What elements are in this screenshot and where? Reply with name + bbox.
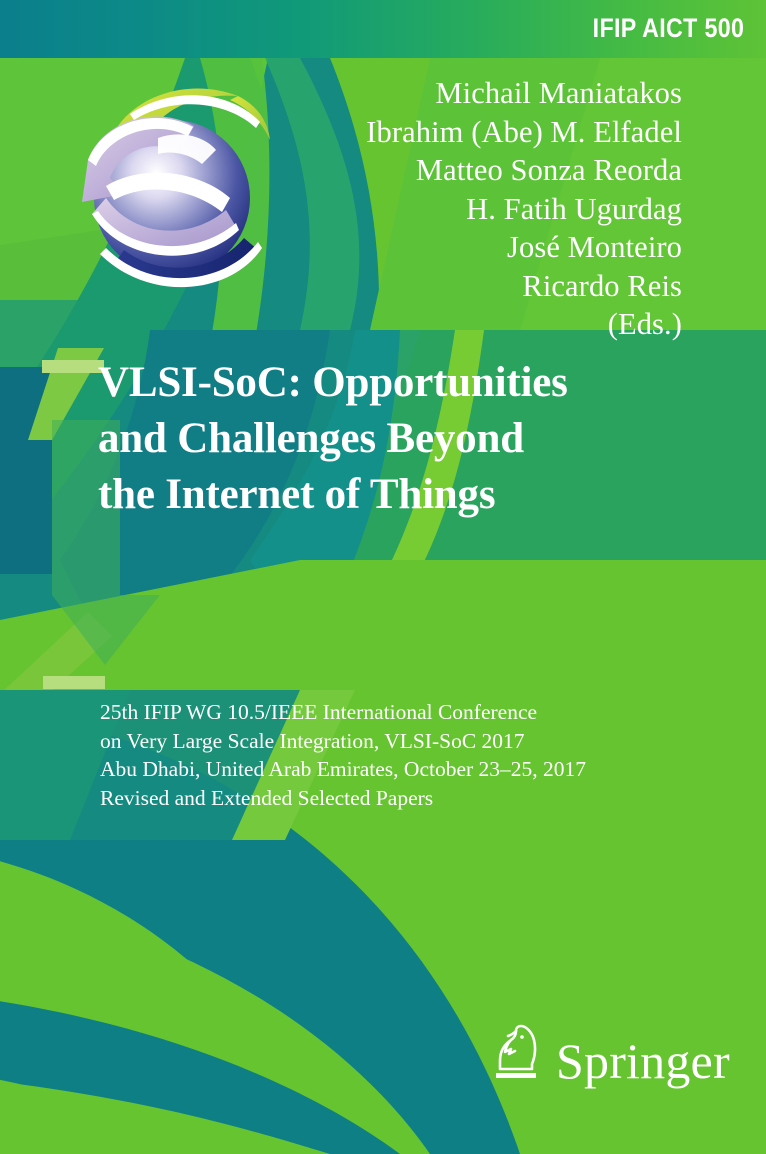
editor-name: H. Fatih Ugurdag — [122, 190, 682, 229]
book-cover: IFIP AICT 500 — [0, 0, 766, 1154]
editors-role: (Eds.) — [122, 305, 682, 344]
title-line: VLSI-SoC: Opportunities — [98, 355, 738, 411]
springer-wordmark: Springer — [556, 1036, 730, 1086]
editor-name: Ibrahim (Abe) M. Elfadel — [122, 113, 682, 152]
subtitle-line: on Very Large Scale Integration, VLSI-So… — [100, 727, 740, 756]
conference-subtitle: 25th IFIP WG 10.5/IEEE International Con… — [100, 698, 740, 812]
subtitle-line: 25th IFIP WG 10.5/IEEE International Con… — [100, 698, 740, 727]
series-banner: IFIP AICT 500 — [0, 0, 766, 58]
editor-name: José Monteiro — [122, 228, 682, 267]
editors-block: Michail Maniatakos Ibrahim (Abe) M. Elfa… — [122, 74, 682, 344]
editor-name: Michail Maniatakos — [122, 74, 682, 113]
editor-name: Ricardo Reis — [122, 267, 682, 306]
page-title: VLSI-SoC: Opportunities and Challenges B… — [98, 355, 738, 523]
title-line: and Challenges Beyond — [98, 411, 738, 467]
title-line: the Internet of Things — [98, 467, 738, 523]
springer-knight-icon — [487, 1021, 543, 1083]
editor-name: Matteo Sonza Reorda — [122, 151, 682, 190]
series-label: IFIP AICT 500 — [568, 13, 744, 44]
springer-logo: Springer — [487, 1021, 730, 1083]
subtitle-line: Revised and Extended Selected Papers — [100, 784, 740, 813]
subtitle-line: Abu Dhabi, United Arab Emirates, October… — [100, 755, 740, 784]
